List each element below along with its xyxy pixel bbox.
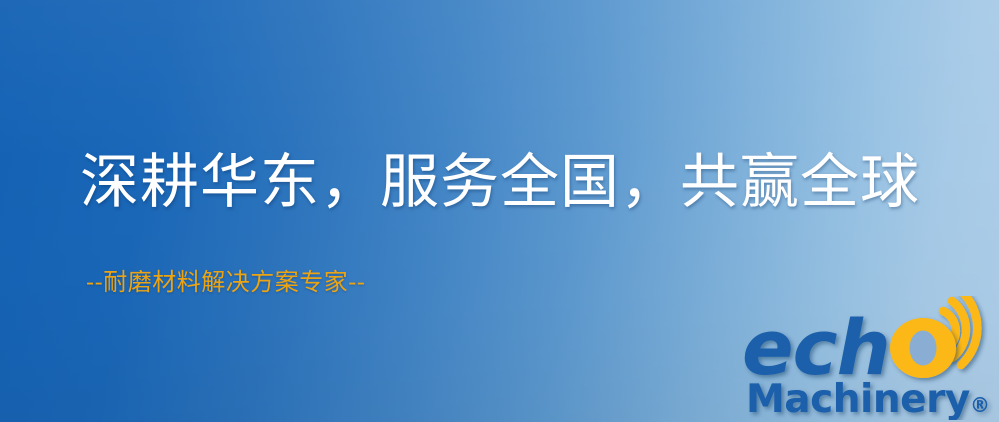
svg-text:Machinery: Machinery bbox=[746, 377, 970, 420]
page-title: 深耕华东，服务全国，共赢全球 bbox=[80, 152, 920, 211]
logo-wordmark-o bbox=[890, 318, 956, 378]
page-subtitle: --耐磨材料解决方案专家-- bbox=[86, 269, 365, 295]
company-logo[interactable]: ech Machinery ® bbox=[744, 296, 996, 420]
logo-tagline: Machinery ® bbox=[746, 377, 990, 420]
registered-trademark-icon: ® bbox=[970, 393, 990, 417]
hero-banner: 深耕华东，服务全国，共赢全球 --耐磨材料解决方案专家-- ech bbox=[0, 0, 999, 422]
